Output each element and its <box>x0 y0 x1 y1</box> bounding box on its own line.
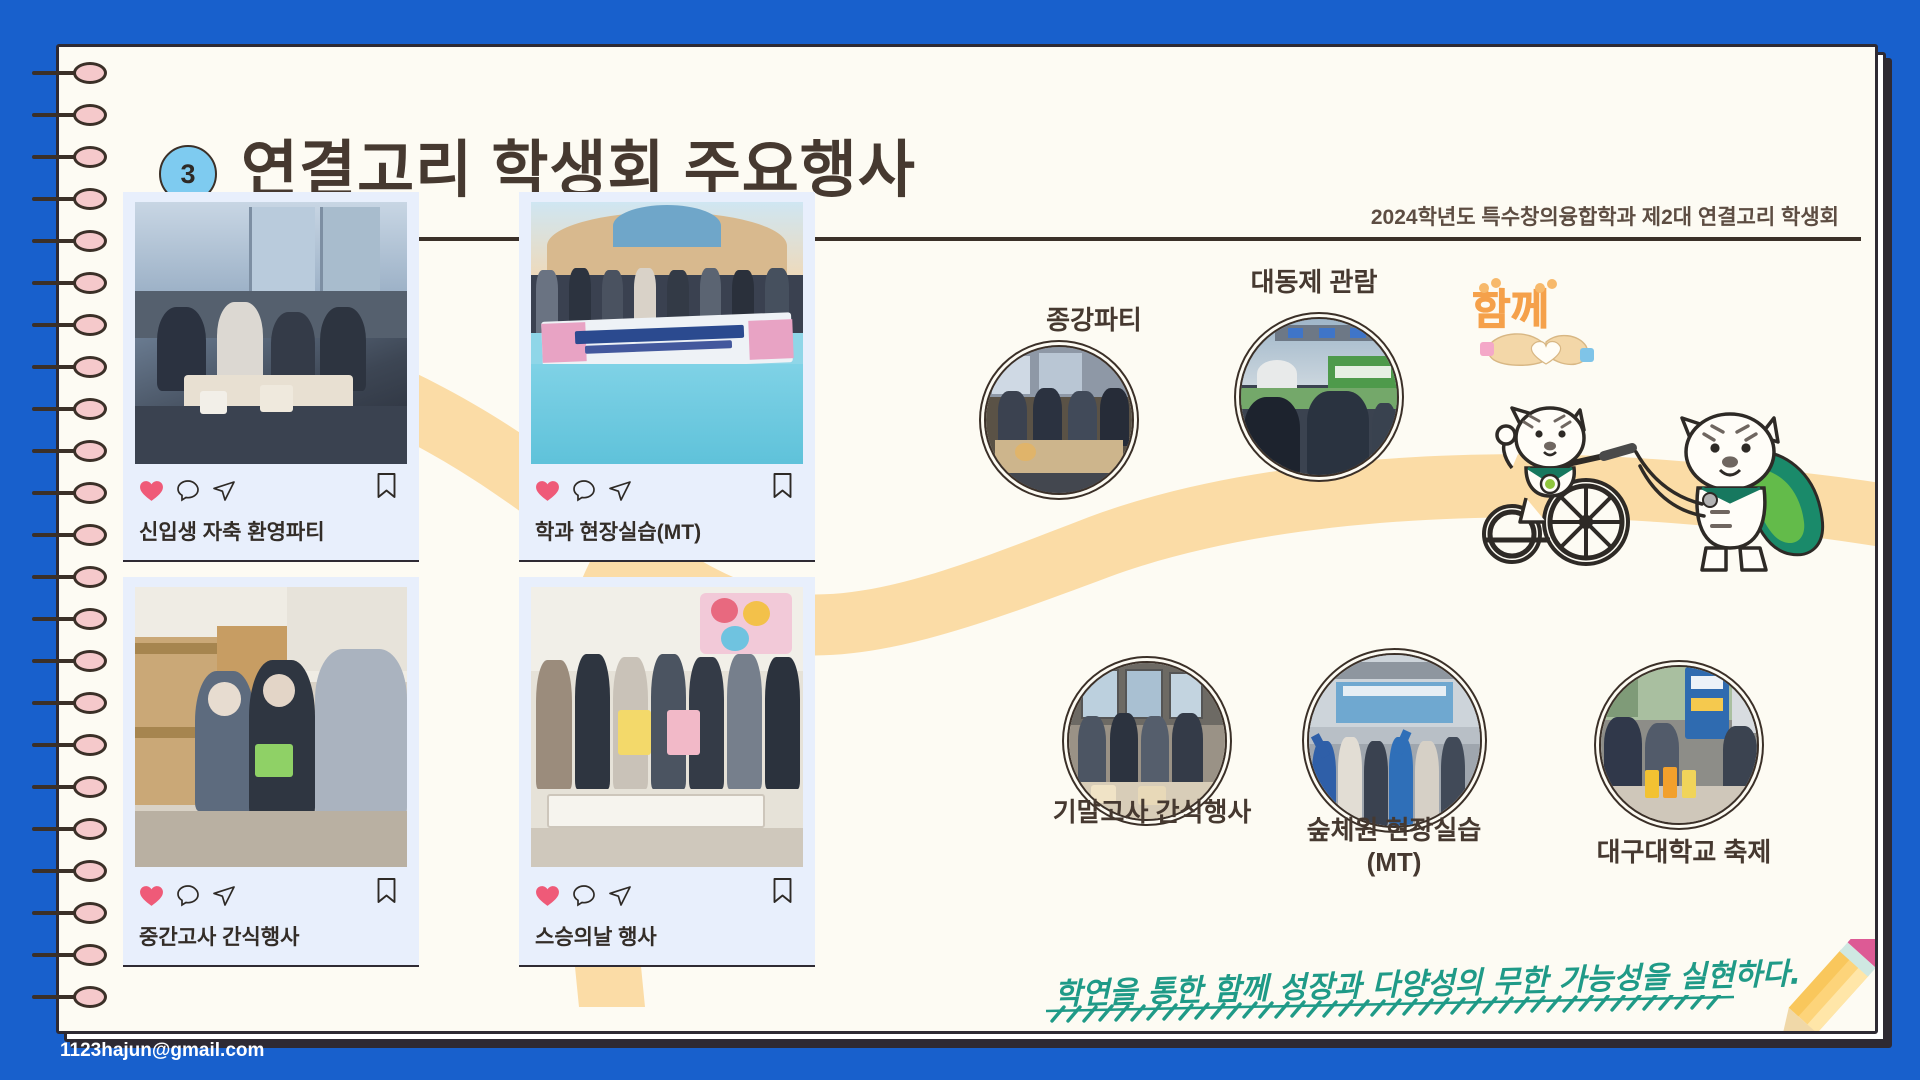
heart-icon[interactable] <box>535 479 560 502</box>
footer-email: 1123hajun@gmail.com <box>60 1040 264 1062</box>
circle-label: 숲체원 현장실습 (MT) <box>1244 815 1544 878</box>
comment-icon[interactable] <box>572 884 596 907</box>
comment-icon[interactable] <box>572 479 596 502</box>
binding-ring-hole <box>73 482 107 504</box>
binding-ring-hole <box>73 776 107 798</box>
binding-ring-hole <box>73 818 107 840</box>
binding-ring-hole <box>73 944 107 966</box>
photo-card[interactable]: 신입생 자축 환영파티 <box>123 192 419 562</box>
binding-ring-hole <box>73 566 107 588</box>
binding-ring-hole <box>73 608 107 630</box>
binding-ring-hole <box>73 440 107 462</box>
binding-ring-hole <box>73 314 107 336</box>
circle-photo[interactable] <box>1239 317 1399 477</box>
together-sticker: 함께 <box>1472 278 1594 365</box>
card-caption: 학과 현장실습(MT) <box>535 516 701 546</box>
spiral-binding <box>0 0 130 1080</box>
binding-ring-hole <box>73 398 107 420</box>
card-action-row[interactable] <box>139 479 236 502</box>
mascot-illustration: 함께 <box>1454 272 1878 592</box>
binding-ring-hole <box>73 146 107 168</box>
binding-ring-hole <box>73 230 107 252</box>
circle-photo[interactable] <box>1307 653 1482 828</box>
circle-label: 대구대학교 축제 <box>1539 837 1829 869</box>
binding-ring-hole <box>73 650 107 672</box>
card-caption: 신입생 자축 환영파티 <box>139 516 325 546</box>
share-icon[interactable] <box>212 479 236 502</box>
share-icon[interactable] <box>212 884 236 907</box>
circle-label: 대동제 관람 <box>1169 267 1459 299</box>
bookmark-icon[interactable] <box>772 878 793 909</box>
binding-ring-hole <box>73 524 107 546</box>
card-action-row[interactable] <box>139 884 236 907</box>
comment-icon[interactable] <box>176 479 200 502</box>
binding-ring-hole <box>73 356 107 378</box>
bookmark-icon[interactable] <box>376 473 397 504</box>
binding-ring-hole <box>73 188 107 210</box>
heart-icon[interactable] <box>535 884 560 907</box>
binding-ring-hole <box>73 104 107 126</box>
binding-ring-hole <box>73 62 107 84</box>
slide-paper: 3 연결고리 학생회 주요행사 2024학년도 특수창의융합학과 제2대 연결고… <box>56 44 1878 1034</box>
card-photo <box>135 202 407 464</box>
circle-label: 종강파티 <box>964 305 1224 337</box>
binding-ring-hole <box>73 692 107 714</box>
comment-icon[interactable] <box>176 884 200 907</box>
heart-icon[interactable] <box>139 479 164 502</box>
card-action-row[interactable] <box>535 479 632 502</box>
heart-icon[interactable] <box>139 884 164 907</box>
binding-ring-hole <box>73 986 107 1008</box>
photo-card[interactable]: 학과 현장실습(MT) <box>519 192 815 562</box>
card-photo <box>531 587 803 867</box>
bookmark-icon[interactable] <box>772 473 793 504</box>
card-photo <box>135 587 407 867</box>
binding-ring-hole <box>73 272 107 294</box>
share-icon[interactable] <box>608 479 632 502</box>
binding-ring-hole <box>73 734 107 756</box>
tiger-with-cape-icon <box>1636 414 1823 570</box>
binding-ring-hole <box>73 902 107 924</box>
bookmark-icon[interactable] <box>376 878 397 909</box>
binding-ring-hole <box>73 860 107 882</box>
card-caption: 스승의날 행사 <box>535 921 657 951</box>
card-action-row[interactable] <box>535 884 632 907</box>
pencil-icon <box>1749 939 1878 1034</box>
card-caption: 중간고사 간식행사 <box>139 921 299 951</box>
photo-card[interactable]: 스승의날 행사 <box>519 577 815 967</box>
share-icon[interactable] <box>608 884 632 907</box>
circle-photo[interactable] <box>984 345 1134 495</box>
card-photo <box>531 202 803 464</box>
photo-card[interactable]: 중간고사 간식행사 <box>123 577 419 967</box>
circle-photo[interactable] <box>1599 665 1759 825</box>
